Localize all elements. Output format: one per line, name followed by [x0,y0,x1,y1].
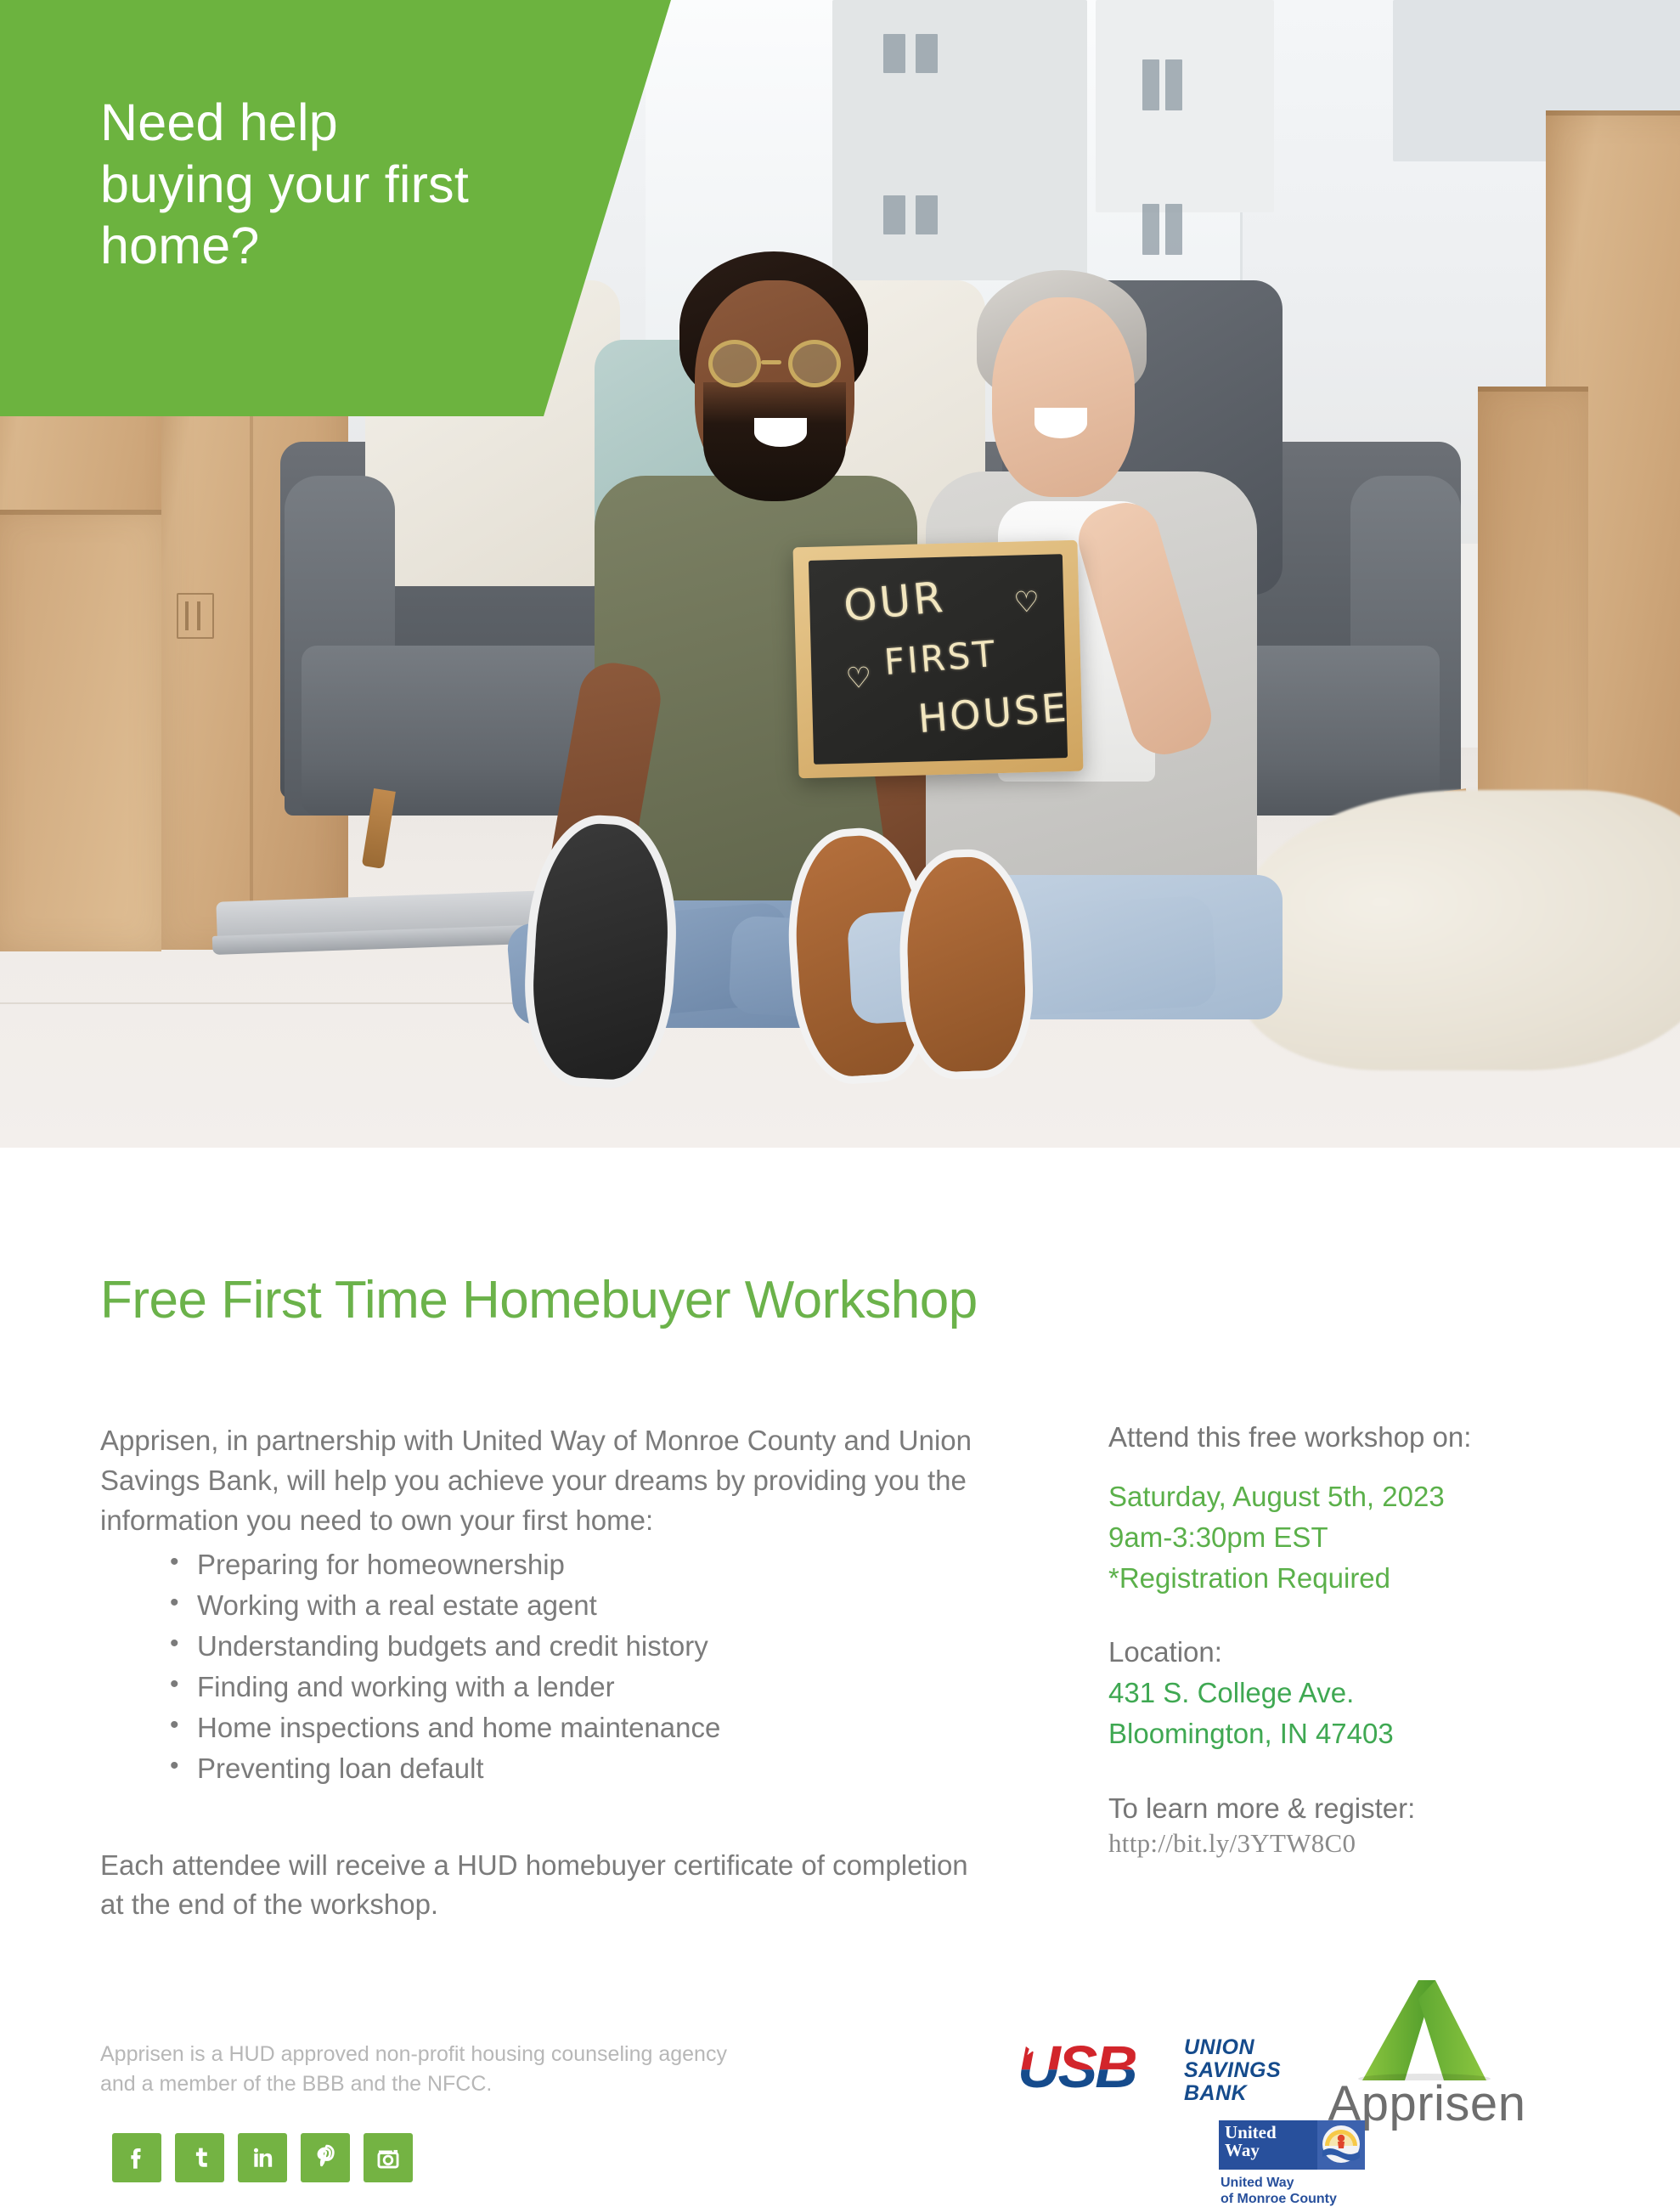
box-flap [1546,110,1680,116]
chalkboard-line-2: FIRST [882,633,998,683]
hero-headline-line-3: home? [100,215,576,277]
united-way-logo: United Way United Way of Monroe County [1219,2120,1380,2207]
building-window-8 [1165,204,1182,255]
intro-paragraph: Apprisen, in partnership with United Way… [100,1421,975,1541]
woman-smile [1034,408,1087,438]
man-glasses-bridge [761,360,781,364]
register-label: To learn more & register: [1108,1789,1618,1829]
list-item: Preparing for homeownership [170,1544,975,1585]
fineprint-disclaimer: Apprisen is a HUD approved non-profit ho… [100,2040,746,2099]
location-label: Location: [1108,1633,1618,1673]
attend-label: Attend this free workshop on: [1108,1418,1618,1458]
chalkboard-heart-2: ♡ [845,661,872,696]
certificate-paragraph: Each attendee will receive a HUD homebuy… [100,1846,975,1926]
hero-photo: OUR ♡ FIRST ♡ HOUSE Need help buying you… [0,0,1680,1148]
list-item: Understanding budgets and credit history [170,1626,975,1667]
registration-url[interactable]: http://bit.ly/3YTW8C0 [1108,1828,1618,1859]
chalkboard-heart-1: ♡ [1013,585,1040,620]
linkedin-icon[interactable] [238,2133,287,2182]
building-window-5 [1142,59,1159,110]
workshop-topics-list: Preparing for homeownership Working with… [170,1544,975,1790]
event-time: 9am-3:30pm EST [1108,1517,1618,1558]
union-savings-bank-logo: USB USB ★ UNION SAVINGS BANK [1018,2028,1306,2113]
building-window-7 [1142,204,1159,255]
building-shape-1 [832,0,1087,280]
man-glasses-left-lens [708,340,761,387]
left-column: Apprisen, in partnership with United Way… [100,1421,975,1925]
united-way-mark: United Way [1219,2120,1365,2170]
united-way-tag-line-2: of Monroe County [1221,2191,1380,2207]
page-title: Free First Time Homebuyer Workshop [100,1270,978,1330]
usb-star-icon: ★ [1023,2035,1042,2061]
united-way-line-1: United [1225,2124,1317,2142]
pinterest-icon[interactable] [301,2133,350,2182]
usb-word-line-1: UNION [1184,2036,1281,2059]
box-fragile-label [177,593,214,639]
building-shape-2 [1096,0,1274,212]
list-item: Finding and working with a lender [170,1667,975,1707]
box-flap [1478,387,1588,392]
list-item: Preventing loan default [170,1748,975,1789]
apprisen-logo: Apprisen [1299,1980,1554,2133]
address-line-2: Bloomington, IN 47403 [1108,1713,1618,1754]
building-window-6 [1165,59,1182,110]
chalkboard: OUR ♡ FIRST ♡ HOUSE [792,540,1083,779]
man-smile [754,418,807,447]
united-way-text-block: United Way [1219,2120,1317,2170]
apprisen-a-mark-icon [1352,1980,1497,2080]
building-window-1 [883,34,905,73]
event-date: Saturday, August 5th, 2023 [1108,1476,1618,1517]
united-way-line-2: Way [1225,2142,1317,2159]
man-glasses-right-lens [788,340,841,387]
united-way-tag-line-1: United Way [1221,2175,1380,2191]
chalkboard-line-3: HOUSE [916,684,1070,742]
united-way-emblem-icon [1317,2120,1365,2170]
usb-wordmark: UNION SAVINGS BANK [1184,2036,1281,2105]
address-line-1: 431 S. College Ave. [1108,1673,1618,1713]
hero-headline-line-2: buying your first [100,154,576,216]
woman-head [992,297,1135,497]
building-window-4 [916,195,938,234]
facebook-icon[interactable] [112,2133,161,2182]
shag-rug [1238,790,1680,1070]
building-window-3 [883,195,905,234]
moving-box-left-short [0,510,161,951]
hero-headline-line-1: Need help [100,92,576,154]
united-way-tagline: United Way of Monroe County [1219,2175,1380,2207]
instagram-icon[interactable] [364,2133,413,2182]
registration-note: *Registration Required [1108,1558,1618,1599]
usb-word-line-2: SAVINGS [1184,2059,1281,2082]
hero-headline: Need help buying your first home? [100,92,576,277]
chalkboard-surface: OUR ♡ FIRST ♡ HOUSE [809,554,1068,765]
chalkboard-line-1: OUR [842,573,948,631]
box-flap [0,510,161,515]
social-links [112,2133,413,2182]
twitter-icon[interactable] [175,2133,224,2182]
list-item: Home inspections and home maintenance [170,1707,975,1748]
usb-word-line-3: BANK [1184,2082,1281,2105]
right-column: Attend this free workshop on: Saturday, … [1108,1418,1618,1859]
building-window-2 [916,34,938,73]
list-item: Working with a real estate agent [170,1585,975,1626]
